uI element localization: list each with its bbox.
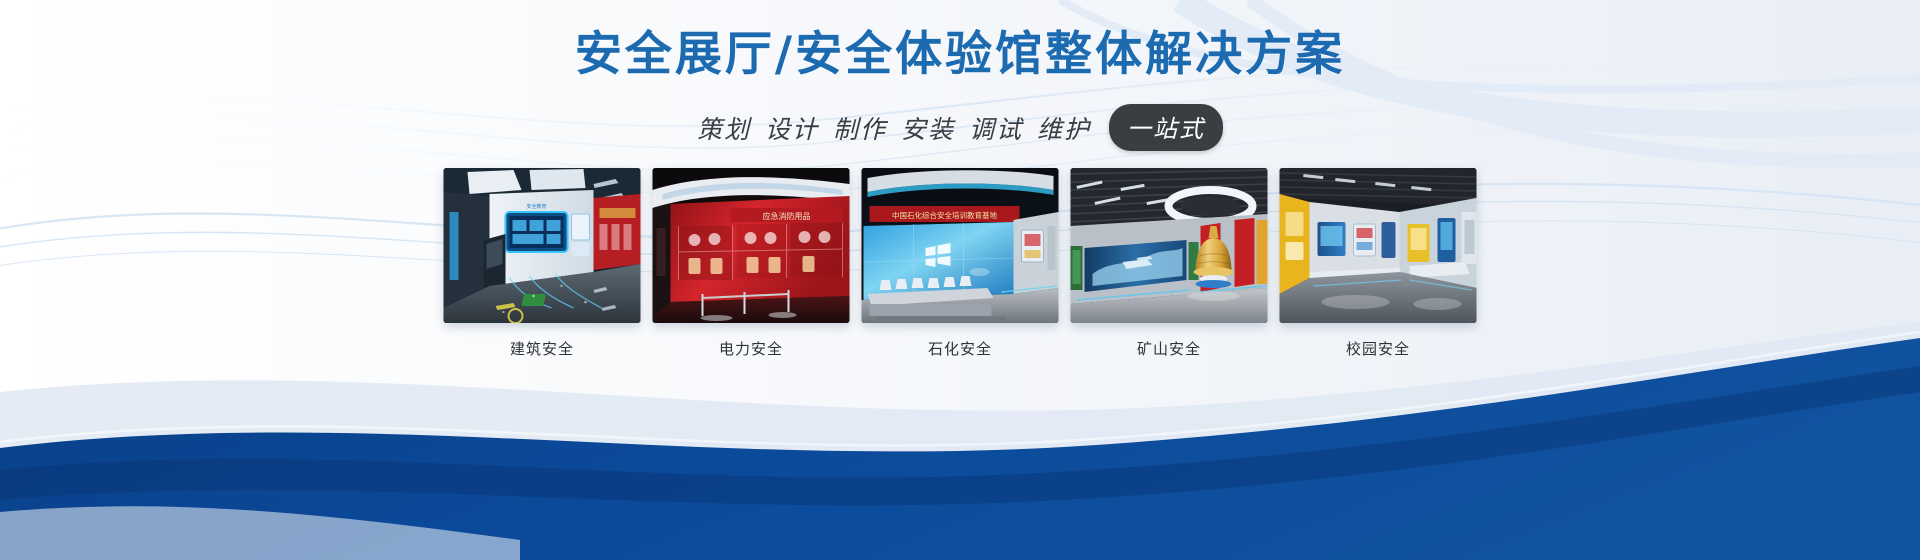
service-steps: 策划 设计 制作 安装 调试 维护 一站式 xyxy=(697,104,1223,151)
card-item[interactable]: 安全教育 xyxy=(444,168,641,359)
card-thumbnail-electric[interactable]: 应急消防用品 xyxy=(653,168,850,323)
one-stop-badge: 一站式 xyxy=(1109,104,1223,151)
card-caption: 石化安全 xyxy=(862,338,1059,359)
svg-text:中国石化综合安全培训教育基地: 中国石化综合安全培训教育基地 xyxy=(892,210,997,220)
card-caption: 校园安全 xyxy=(1280,338,1477,359)
card-caption: 电力安全 xyxy=(653,338,850,359)
headline-block: 安全展厅/安全体验馆整体解决方案 策划 设计 制作 安装 调试 维护 一站式 xyxy=(0,0,1920,151)
card-thumbnail-campus[interactable] xyxy=(1280,168,1477,323)
service-step: 设计 xyxy=(765,110,819,146)
card-thumbnail-mining[interactable] xyxy=(1071,168,1268,323)
service-step: 调试 xyxy=(969,110,1023,146)
service-step: 制作 xyxy=(833,110,887,146)
service-step: 维护 xyxy=(1037,110,1091,146)
card-item[interactable]: 中国石化综合安全培训教育基地 xyxy=(862,168,1059,359)
card-item[interactable]: 矿山安全 xyxy=(1071,168,1268,359)
card-thumbnail-construction[interactable]: 安全教育 xyxy=(444,168,641,323)
card-caption: 建筑安全 xyxy=(444,338,641,359)
card-item[interactable]: 应急消防用品 xyxy=(653,168,850,359)
svg-text:应急消防用品: 应急消防用品 xyxy=(763,211,811,221)
card-item[interactable]: 校园安全 xyxy=(1280,168,1477,359)
service-step: 策划 xyxy=(697,110,751,146)
card-gallery: 安全教育 xyxy=(444,168,1477,359)
page-title: 安全展厅/安全体验馆整体解决方案 xyxy=(0,28,1920,82)
promo-banner: 安全展厅/安全体验馆整体解决方案 策划 设计 制作 安装 调试 维护 一站式 xyxy=(0,0,1920,560)
svg-text:安全教育: 安全教育 xyxy=(526,203,546,210)
service-step: 安装 xyxy=(901,110,955,146)
card-caption: 矿山安全 xyxy=(1071,338,1268,359)
card-thumbnail-petrochemical[interactable]: 中国石化综合安全培训教育基地 xyxy=(862,168,1059,323)
